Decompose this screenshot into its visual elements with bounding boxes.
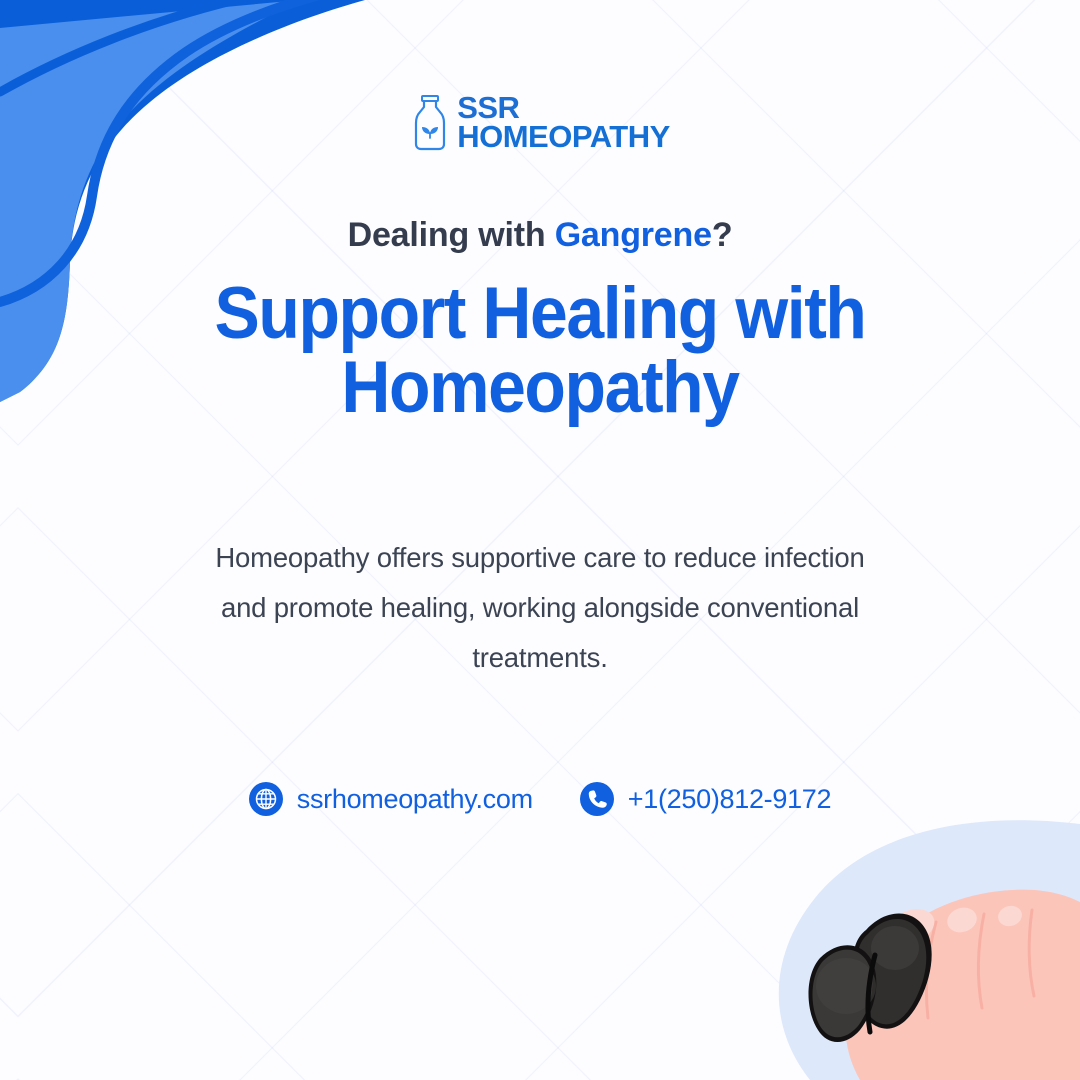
eyebrow-suffix: ? xyxy=(712,216,733,254)
poster-content: SSR HOMEOPATHY Dealing with Gangrene? Su… xyxy=(0,0,1080,1080)
contact-phone[interactable]: +1(250)812-9172 xyxy=(580,782,831,816)
medicine-bottle-leaf-icon xyxy=(410,94,450,152)
poster-canvas: SSR HOMEOPATHY Dealing with Gangrene? Su… xyxy=(0,0,1080,1080)
phone-icon xyxy=(580,782,614,816)
eyebrow-prefix: Dealing with xyxy=(348,216,555,254)
contact-website[interactable]: ssrhomeopathy.com xyxy=(249,782,533,816)
website-label: ssrhomeopathy.com xyxy=(297,784,533,815)
brand-wordmark: SSR HOMEOPATHY xyxy=(457,94,670,151)
eyebrow-question: Dealing with Gangrene? xyxy=(348,216,733,255)
brand-name-line2: HOMEOPATHY xyxy=(457,123,670,152)
page-title: Support Healing with Homeopathy xyxy=(122,277,959,426)
globe-icon xyxy=(249,782,283,816)
body-paragraph: Homeopathy offers supportive care to red… xyxy=(190,533,890,683)
phone-label: +1(250)812-9172 xyxy=(628,784,831,815)
brand-logo: SSR HOMEOPATHY xyxy=(410,92,670,154)
eyebrow-highlight: Gangrene xyxy=(555,216,712,254)
contact-row: ssrhomeopathy.com +1(250)812-9172 xyxy=(249,782,831,816)
